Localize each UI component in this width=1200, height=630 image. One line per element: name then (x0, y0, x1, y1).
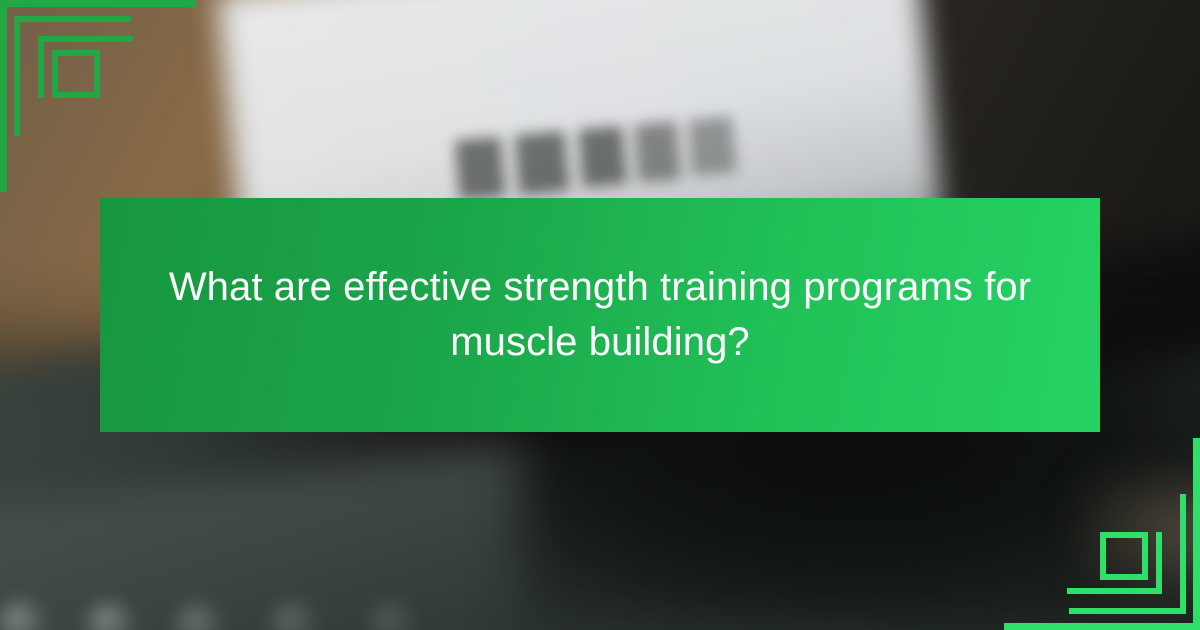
ornament-line-middle-vertical (38, 36, 44, 98)
ornament-line-inner-horizontal (1069, 608, 1182, 614)
social-share-card: What are effective strength training pro… (0, 0, 1200, 630)
corner-ornament-top-left (0, 0, 230, 210)
ornament-square-outline (52, 50, 100, 98)
ornament-square-outline (1100, 532, 1148, 580)
headline-banner: What are effective strength training pro… (100, 198, 1100, 432)
ornament-line-middle-horizontal (38, 36, 133, 42)
ornament-line-outer-horizontal (0, 0, 196, 7)
ornament-line-outer-vertical (1193, 438, 1200, 630)
ornament-line-outer-vertical (0, 0, 7, 192)
page-title: What are effective strength training pro… (156, 260, 1044, 370)
ornament-line-inner-horizontal (18, 16, 131, 22)
ornament-line-outer-horizontal (1004, 623, 1200, 630)
ornament-line-inner-vertical (1180, 494, 1186, 614)
corner-ornament-bottom-right (970, 420, 1200, 630)
ornament-line-middle-vertical (1156, 532, 1162, 594)
ornament-line-inner-vertical (14, 16, 20, 136)
ornament-line-middle-horizontal (1067, 588, 1162, 594)
